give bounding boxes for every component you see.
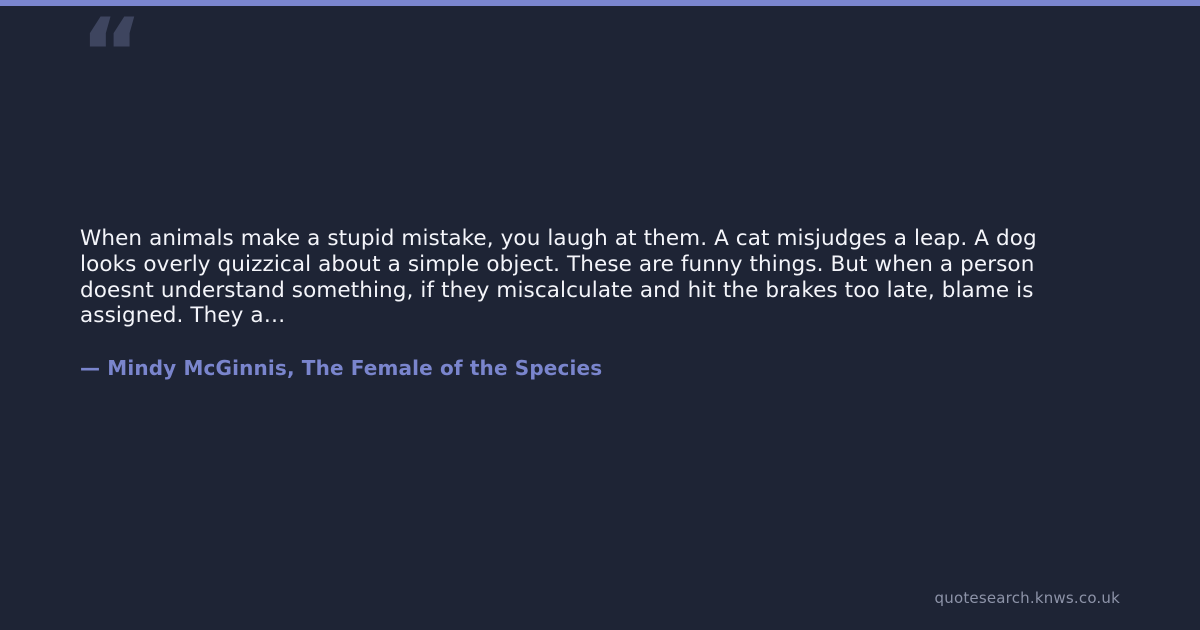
top-accent-bar <box>0 0 1200 6</box>
source-url-label: quotesearch.knws.co.uk <box>935 588 1120 608</box>
quote-attribution: — Mindy McGinnis, The Female of the Spec… <box>80 354 602 382</box>
opening-quote-mark-icon: “ <box>80 6 143 102</box>
quote-card: “ When animals make a stupid mistake, yo… <box>0 0 1200 630</box>
quote-text: When animals make a stupid mistake, you … <box>80 226 1085 329</box>
